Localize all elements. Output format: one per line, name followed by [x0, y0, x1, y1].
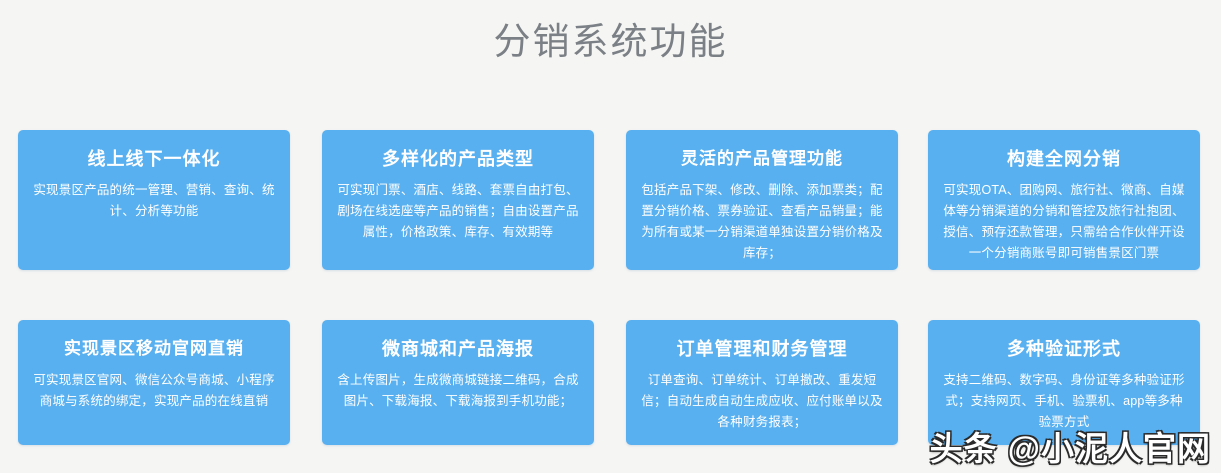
feature-card-5-title: 实现景区移动官网直销 — [32, 336, 276, 362]
feature-card-2[interactable]: 多样化的产品类型 可实现门票、酒店、线路、套票自由打包、剧场在线选座等产品的销售… — [322, 130, 594, 270]
feature-card-6-title: 微商城和产品海报 — [336, 336, 580, 362]
feature-card-5[interactable]: 实现景区移动官网直销 可实现景区官网、微信公众号商城、小程序商城与系统的绑定，实… — [18, 320, 290, 445]
feature-card-3[interactable]: 灵活的产品管理功能 包括产品下架、修改、删除、添加票类；配置分销价格、票券验证、… — [626, 130, 898, 270]
feature-card-1-body: 实现景区产品的统一管理、营销、查询、统计、分析等功能 — [32, 180, 276, 222]
feature-card-6-body: 含上传图片，生成微商城链接二维码，合成图片、下载海报、下载海报到手机功能； — [336, 370, 580, 412]
feature-card-7[interactable]: 订单管理和财务管理 订单查询、订单统计、订单撤改、重发短信；自动生成自动生成应收… — [626, 320, 898, 445]
feature-card-2-body: 可实现门票、酒店、线路、套票自由打包、剧场在线选座等产品的销售；自由设置产品属性… — [336, 180, 580, 243]
feature-card-1-title: 线上线下一体化 — [32, 146, 276, 172]
feature-card-7-title: 订单管理和财务管理 — [640, 336, 884, 362]
feature-card-3-title: 灵活的产品管理功能 — [640, 146, 884, 172]
page-title: 分销系统功能 — [0, 14, 1221, 70]
feature-card-4[interactable]: 构建全网分销 可实现OTA、团购网、旅行社、微商、自媒体等分销渠道的分销和管控及… — [928, 130, 1200, 270]
feature-card-3-body: 包括产品下架、修改、删除、添加票类；配置分销价格、票券验证、查看产品销量；能为所… — [640, 180, 884, 264]
feature-card-7-body: 订单查询、订单统计、订单撤改、重发短信；自动生成自动生成应收、应付账单以及各种财… — [640, 370, 884, 433]
feature-card-4-title: 构建全网分销 — [942, 146, 1186, 172]
feature-grid-page: 分销系统功能 线上线下一体化 实现景区产品的统一管理、营销、查询、统计、分析等功… — [0, 0, 1221, 473]
feature-card-8-title: 多种验证形式 — [942, 336, 1186, 362]
feature-card-8[interactable]: 多种验证形式 支持二维码、数字码、身份证等多种验证形式；支持网页、手机、验票机、… — [928, 320, 1200, 445]
feature-card-1[interactable]: 线上线下一体化 实现景区产品的统一管理、营销、查询、统计、分析等功能 — [18, 130, 290, 270]
feature-card-8-body: 支持二维码、数字码、身份证等多种验证形式；支持网页、手机、验票机、app等多种验… — [942, 370, 1186, 433]
feature-card-5-body: 可实现景区官网、微信公众号商城、小程序商城与系统的绑定，实现产品的在线直销 — [32, 370, 276, 412]
feature-card-2-title: 多样化的产品类型 — [336, 146, 580, 172]
feature-card-6[interactable]: 微商城和产品海报 含上传图片，生成微商城链接二维码，合成图片、下载海报、下载海报… — [322, 320, 594, 445]
feature-card-4-body: 可实现OTA、团购网、旅行社、微商、自媒体等分销渠道的分销和管控及旅行社抱团、授… — [942, 180, 1186, 264]
